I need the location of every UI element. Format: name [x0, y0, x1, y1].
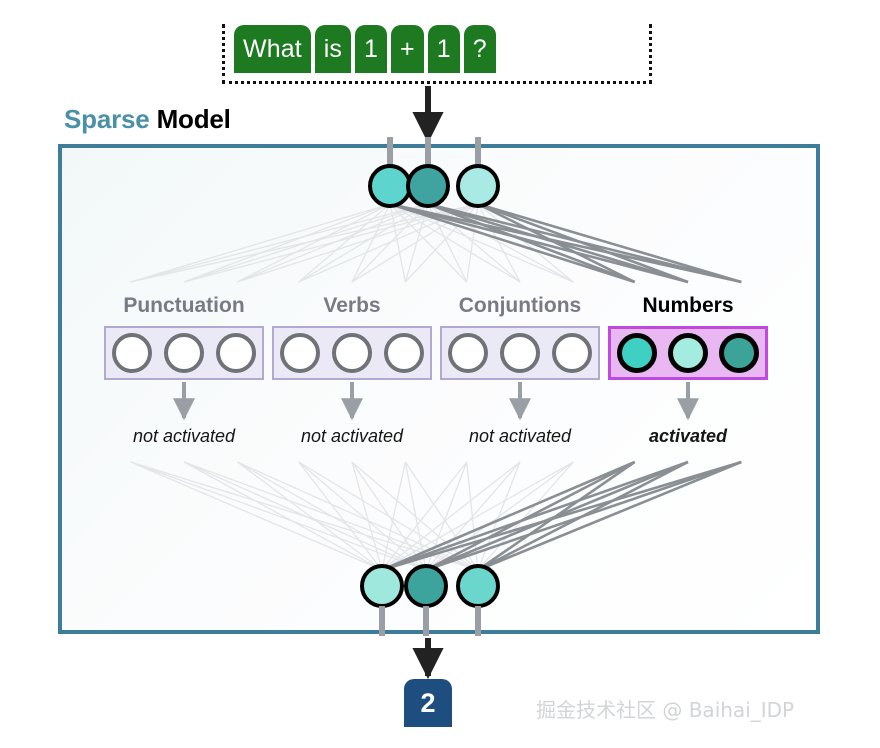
- output-token: 2: [404, 679, 452, 727]
- title-accent-word: Sparse: [64, 104, 150, 134]
- neuron-stem: [425, 137, 431, 167]
- output-neuron-1: [360, 564, 404, 608]
- output-neuron-3: [456, 564, 500, 608]
- expert-group-status-3: activated: [558, 426, 818, 447]
- title-plain-word: Model: [157, 104, 231, 134]
- output-neuron-2: [404, 564, 448, 608]
- expert-neuron-0-0: [112, 333, 152, 373]
- page-title: Sparse Model: [64, 104, 231, 135]
- expert-neuron-0-1: [164, 333, 204, 373]
- neuron-stem: [379, 606, 385, 636]
- input-token: is: [315, 25, 351, 73]
- expert-group-box-2[interactable]: [440, 326, 600, 380]
- expert-neuron-3-0: [617, 333, 657, 373]
- neuron-stem: [423, 606, 429, 636]
- expert-neuron-1-2: [384, 333, 424, 373]
- expert-neuron-2-0: [448, 333, 488, 373]
- input-token: 1: [428, 25, 460, 73]
- expert-neuron-3-1: [668, 333, 708, 373]
- expert-neuron-0-2: [216, 333, 256, 373]
- input-token-row: Whatis1+1?: [234, 25, 496, 73]
- neuron-stem: [387, 137, 393, 167]
- diagram-canvas: Whatis1+1? Sparse Model Punctuationnot a…: [0, 0, 880, 748]
- watermark: 掘金技术社区 @ Baihai_IDP: [536, 694, 794, 723]
- expert-group-box-0[interactable]: [104, 326, 264, 380]
- expert-group-box-3[interactable]: [608, 326, 768, 380]
- neuron-stem: [475, 606, 481, 636]
- expert-group-label-3: Numbers: [558, 294, 818, 318]
- expert-neuron-1-1: [332, 333, 372, 373]
- expert-neuron-2-1: [500, 333, 540, 373]
- sparse-model-container: [58, 144, 820, 634]
- input-token: 1: [355, 25, 387, 73]
- input-token: ?: [464, 25, 496, 73]
- expert-group-box-1[interactable]: [272, 326, 432, 380]
- output-value: 2: [420, 688, 435, 719]
- expert-neuron-2-2: [552, 333, 592, 373]
- input-neuron-3: [456, 164, 500, 208]
- input-token: +: [391, 25, 424, 73]
- expert-neuron-3-2: [719, 333, 759, 373]
- expert-neuron-1-0: [280, 333, 320, 373]
- input-neuron-2: [406, 164, 450, 208]
- input-token: What: [234, 25, 311, 73]
- neuron-stem: [475, 137, 481, 167]
